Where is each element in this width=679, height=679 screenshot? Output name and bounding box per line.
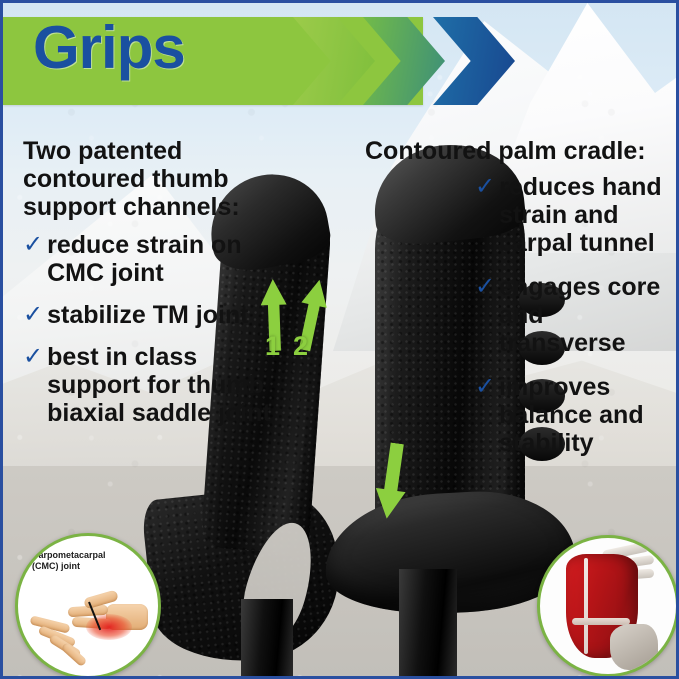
right-column-heading: Contoured palm cradle: [365, 137, 675, 165]
bullet-label: reduces hand strain and carpal tunnel [499, 173, 675, 257]
check-icon: ✓ [475, 273, 495, 301]
cmc-inset-label: Carpometacarpal (CMC) joint [32, 550, 136, 572]
channel-number-2: 2 [293, 333, 308, 360]
list-item: ✓ improves balance and stability [475, 373, 675, 457]
list-item: ✓ reduces hand strain and carpal tunnel [475, 173, 675, 257]
check-icon: ✓ [23, 301, 43, 329]
left-column-heading: Two patented contoured thumb support cha… [23, 137, 273, 221]
torso-anatomy-illustration [558, 544, 662, 670]
bullet-label: best in class support for thumb biaxial … [47, 343, 273, 427]
bullet-label: improves balance and stability [499, 373, 675, 457]
right-text-column: Contoured palm cradle: ✓ reduces hand st… [365, 137, 675, 473]
left-text-column: Two patented contoured thumb support cha… [23, 137, 273, 441]
list-item: ✓ stabilize TM joint [23, 301, 273, 329]
pelvis-bone [610, 624, 658, 670]
cmc-label-line-2: (CMC) joint [32, 561, 80, 571]
right-bullet-list: ✓ reduces hand strain and carpal tunnel … [365, 173, 675, 457]
check-icon: ✓ [23, 343, 43, 371]
core-muscles-inset [537, 535, 679, 677]
bullet-label: stabilize TM joint [47, 301, 248, 329]
check-icon: ✓ [475, 173, 495, 201]
left-bullet-list: ✓ reduce strain on CMC joint ✓ stabilize… [23, 231, 273, 427]
bullet-label: reduce strain on CMC joint [47, 231, 273, 287]
list-item: ✓ engages core and transverse [475, 273, 675, 357]
cmc-label-line-1: Carpometacarpal [32, 550, 106, 560]
hand-skeleton-illustration [24, 580, 152, 672]
linea-alba [584, 558, 588, 654]
list-item: ✓ best in class support for thumb biaxia… [23, 343, 273, 427]
cmc-pain-highlight [86, 614, 132, 640]
check-icon: ✓ [23, 231, 43, 259]
page-title: Grips [33, 19, 185, 77]
finger-bone-4 [61, 642, 88, 667]
cmc-joint-inset: Carpometacarpal (CMC) joint [15, 533, 161, 679]
tendinous-intersection [572, 618, 630, 625]
list-item: ✓ reduce strain on CMC joint [23, 231, 273, 287]
check-icon: ✓ [475, 373, 495, 401]
bullet-label: engages core and transverse [499, 273, 675, 357]
grips-infographic: Grips 1 2 Two patented contoured thumb s… [0, 0, 679, 679]
